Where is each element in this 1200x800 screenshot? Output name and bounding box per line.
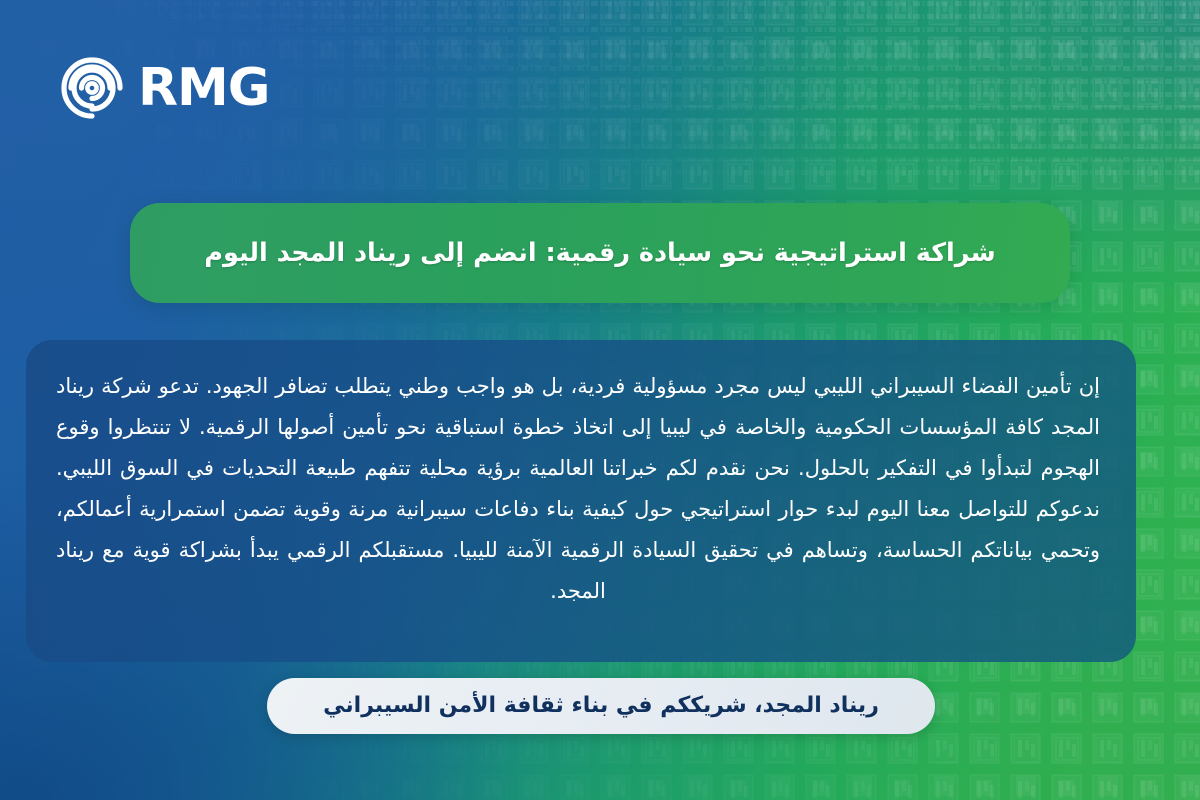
footer-tagline-pill: ريناد المجد، شريككم في بناء ثقافة الأمن … (267, 678, 935, 734)
body-panel: إن تأمين الفضاء السيبراني الليبي ليس مجر… (26, 340, 1136, 662)
body-paragraph: إن تأمين الفضاء السيبراني الليبي ليس مجر… (56, 366, 1100, 612)
spiral-swirl-icon (60, 56, 124, 120)
headline-banner: شراكة استراتيجية نحو سيادة رقمية: انضم إ… (130, 203, 1070, 303)
headline-text: شراكة استراتيجية نحو سيادة رقمية: انضم إ… (204, 236, 995, 270)
brand-logo[interactable]: RMG (60, 56, 269, 120)
poster-canvas: RMG شراكة استراتيجية نحو سيادة رقمية: ان… (0, 0, 1200, 800)
footer-tagline-text: ريناد المجد، شريككم في بناء ثقافة الأمن … (323, 692, 879, 721)
brand-wordmark: RMG (138, 62, 269, 114)
